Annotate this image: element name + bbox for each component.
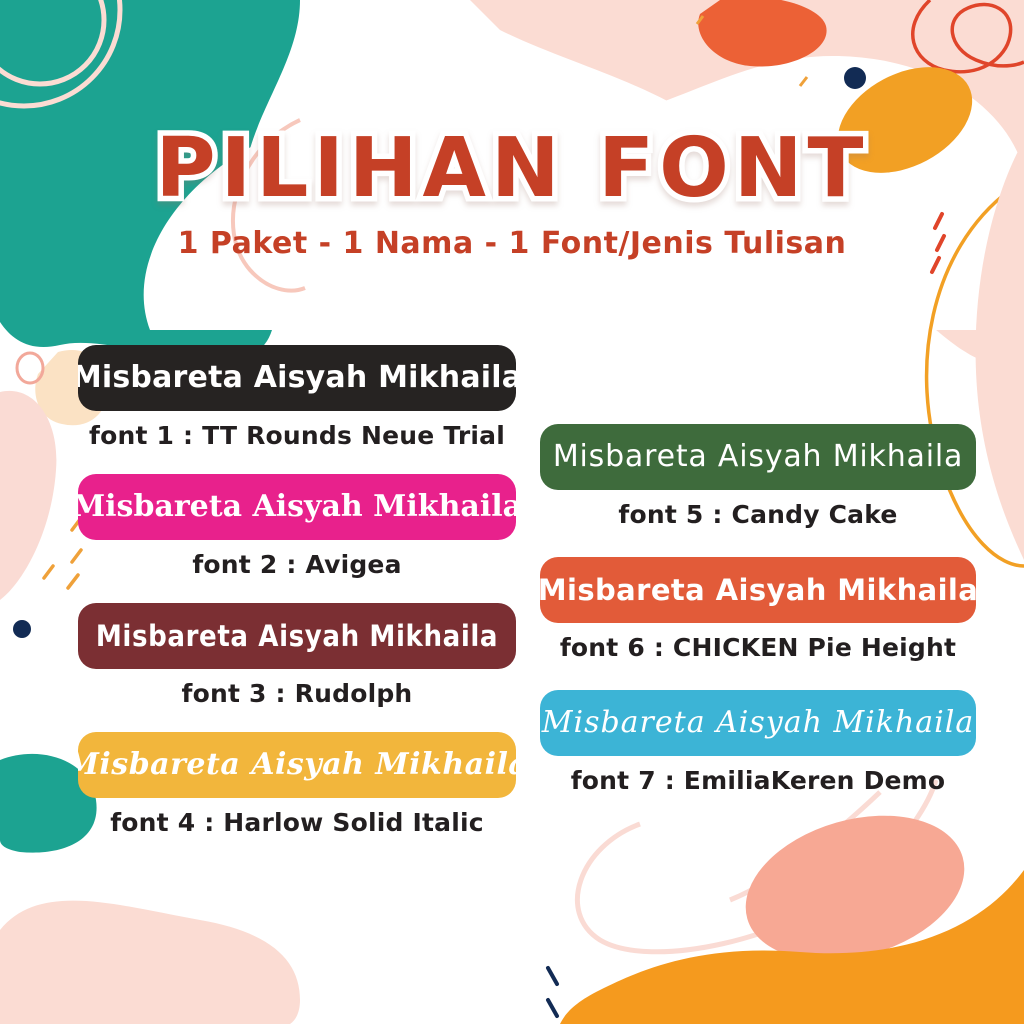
navy-dashes-bottom [548,968,557,1016]
font-caption-7: font 7 : EmiliaKeren Demo [540,766,976,795]
font-sample-text-5: Misbareta Aisyah Mikhaila [553,442,963,472]
font-sample-badge-1[interactable]: Misbareta Aisyah Mikhaila [78,345,516,411]
font-caption-1: font 1 : TT Rounds Neue Trial [78,421,516,450]
font-sample-badge-3[interactable]: Misbareta Aisyah Mikhaila [78,603,516,669]
yellow-dashes-left [44,518,81,588]
navy-dot-top [844,67,866,89]
font-item-4[interactable]: Misbareta Aisyah Mikhaila font 4 : Harlo… [78,732,516,837]
font-sample-badge-4[interactable]: Misbareta Aisyah Mikhaila [78,732,516,798]
font-list-right: Misbareta Aisyah Mikhaila font 5 : Candy… [540,424,976,823]
font-caption-3: font 3 : Rudolph [78,679,516,708]
font-sample-text-6: Misbareta Aisyah Mikhaila [540,576,976,605]
pink-blob-left-mid [0,391,56,600]
page-title: PILIHAN FONT [0,128,1024,210]
pink-blob-bottom-left [0,901,300,1024]
font-item-2[interactable]: Misbareta Aisyah Mikhaila font 2 : Avige… [78,474,516,579]
font-sample-badge-5[interactable]: Misbareta Aisyah Mikhaila [540,424,976,490]
font-caption-6: font 6 : CHICKEN Pie Height [540,633,976,662]
navy-dot-left [13,620,31,638]
font-item-6[interactable]: Misbareta Aisyah Mikhaila font 6 : CHICK… [540,557,976,662]
font-item-5[interactable]: Misbareta Aisyah Mikhaila font 5 : Candy… [540,424,976,529]
font-sample-text-1: Misbareta Aisyah Mikhaila [78,363,516,393]
font-sample-text-2: Misbareta Aisyah Mikhaila [78,492,516,522]
font-sample-badge-7[interactable]: Misbareta Aisyah Mikhaila [540,690,976,756]
font-sample-text-7: Misbareta Aisyah Mikhaila [542,708,975,738]
font-item-1[interactable]: Misbareta Aisyah Mikhaila font 1 : TT Ro… [78,345,516,450]
poster-canvas: PILIHAN FONT 1 Paket - 1 Nama - 1 Font/J… [0,0,1024,1024]
poster-header: PILIHAN FONT 1 Paket - 1 Nama - 1 Font/J… [0,128,1024,261]
font-sample-badge-6[interactable]: Misbareta Aisyah Mikhaila [540,557,976,623]
font-caption-5: font 5 : Candy Cake [540,500,976,529]
font-item-3[interactable]: Misbareta Aisyah Mikhaila font 3 : Rudol… [78,603,516,708]
font-sample-text-3: Misbareta Aisyah Mikhaila [96,622,498,651]
font-caption-4: font 4 : Harlow Solid Italic [78,808,516,837]
font-list-left: Misbareta Aisyah Mikhaila font 1 : TT Ro… [78,345,516,861]
font-item-7[interactable]: Misbareta Aisyah Mikhaila font 7 : Emili… [540,690,976,795]
pink-circle-outline-left [17,353,43,383]
page-subtitle: 1 Paket - 1 Nama - 1 Font/Jenis Tulisan [0,226,1024,261]
font-sample-badge-2[interactable]: Misbareta Aisyah Mikhaila [78,474,516,540]
font-caption-2: font 2 : Avigea [78,550,516,579]
font-sample-text-4: Misbareta Aisyah Mikhaila [78,750,516,780]
